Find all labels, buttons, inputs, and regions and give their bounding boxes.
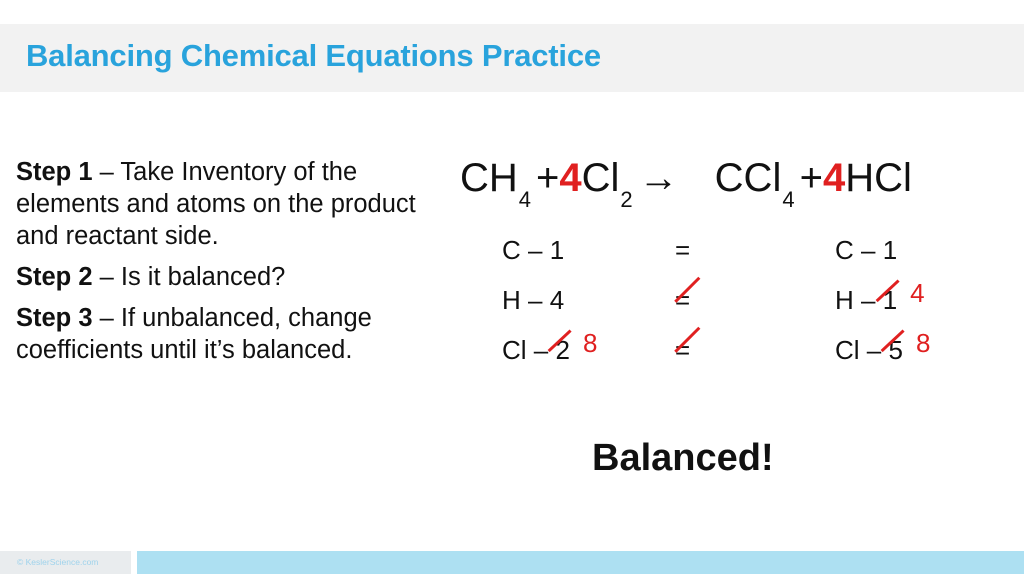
product-element-label: C – (835, 235, 883, 265)
reactant-count-struck: 2 (555, 335, 569, 366)
product-count-correction: 8 (916, 328, 930, 358)
comparison-carbon: = (675, 235, 690, 266)
step-item-1: Step 1 – Take Inventory of the elements … (16, 156, 452, 252)
product-tally-carbon: C – 1 (835, 235, 897, 266)
footer-credit: © KeslerScience.com (17, 557, 98, 567)
page-title: Balancing Chemical Equations Practice (26, 38, 601, 74)
product-count-struck: 1 (883, 285, 897, 316)
steps-list: Step 1 – Take Inventory of the elements … (16, 156, 452, 366)
reactant-element-label: H – (502, 285, 550, 315)
reactant-count: 1 (550, 235, 564, 265)
conclusion-text: Balanced! (592, 437, 774, 480)
step-item-2: Step 2 – Is it balanced? (16, 261, 452, 293)
product-count: 1 (883, 235, 897, 265)
inventory-row: C – 1 = C – 1 (460, 235, 980, 285)
reactant-tally-chlorine: Cl – 28 (502, 335, 597, 366)
step-2-label: Step 2 (16, 263, 93, 291)
inventory-row: Cl – 28 = Cl – 58 (460, 335, 980, 385)
reactant-2-formula: Cl (582, 156, 620, 200)
not-equals-icon: = (675, 285, 690, 316)
step-item-3: Step 3 – If unbalanced, change coefficie… (16, 302, 452, 366)
product-tally-hydrogen: H – 14 (835, 285, 925, 316)
not-equals-icon: = (675, 335, 690, 366)
reactant-element-label: C – (502, 235, 550, 265)
chemical-equation: CH4+4Cl2→CCl4+4HCl (460, 158, 912, 211)
reactant-1-formula: CH (460, 156, 518, 200)
reactant-2-coefficient: 4 (559, 156, 581, 200)
reactant-tally-hydrogen: H – 4 (502, 285, 564, 316)
reactant-count: 4 (550, 285, 564, 315)
inventory-row: H – 4 = H – 14 (460, 285, 980, 335)
step-1-label: Step 1 (16, 158, 93, 186)
reactant-1-subscript: 4 (518, 187, 531, 212)
product-count-struck: 5 (888, 335, 902, 366)
product-tally-chlorine: Cl – 58 (835, 335, 930, 366)
comparison-hydrogen: = (675, 285, 690, 316)
step-2-body: – Is it balanced? (93, 263, 286, 291)
reactant-2-subscript: 2 (619, 187, 632, 212)
plus-sign-2: + (800, 156, 823, 200)
product-1-subscript: 4 (781, 187, 794, 212)
atom-inventory: C – 1 = C – 1 H – 4 = H – 14 Cl – 28 = C… (460, 235, 980, 385)
equals-icon: = (675, 235, 690, 266)
reactant-count-correction: 8 (583, 328, 597, 358)
step-3-label: Step 3 (16, 304, 93, 332)
product-2-coefficient: 4 (823, 156, 845, 200)
footer-blue-band (137, 551, 1024, 574)
comparison-chlorine: = (675, 335, 690, 366)
product-count-correction: 4 (910, 278, 924, 308)
reactant-tally-carbon: C – 1 (502, 235, 564, 266)
plus-sign-1: + (536, 156, 559, 200)
product-1-formula: CCl (715, 156, 782, 200)
product-2-formula: HCl (845, 156, 912, 200)
reaction-arrow-icon: → (633, 156, 689, 200)
